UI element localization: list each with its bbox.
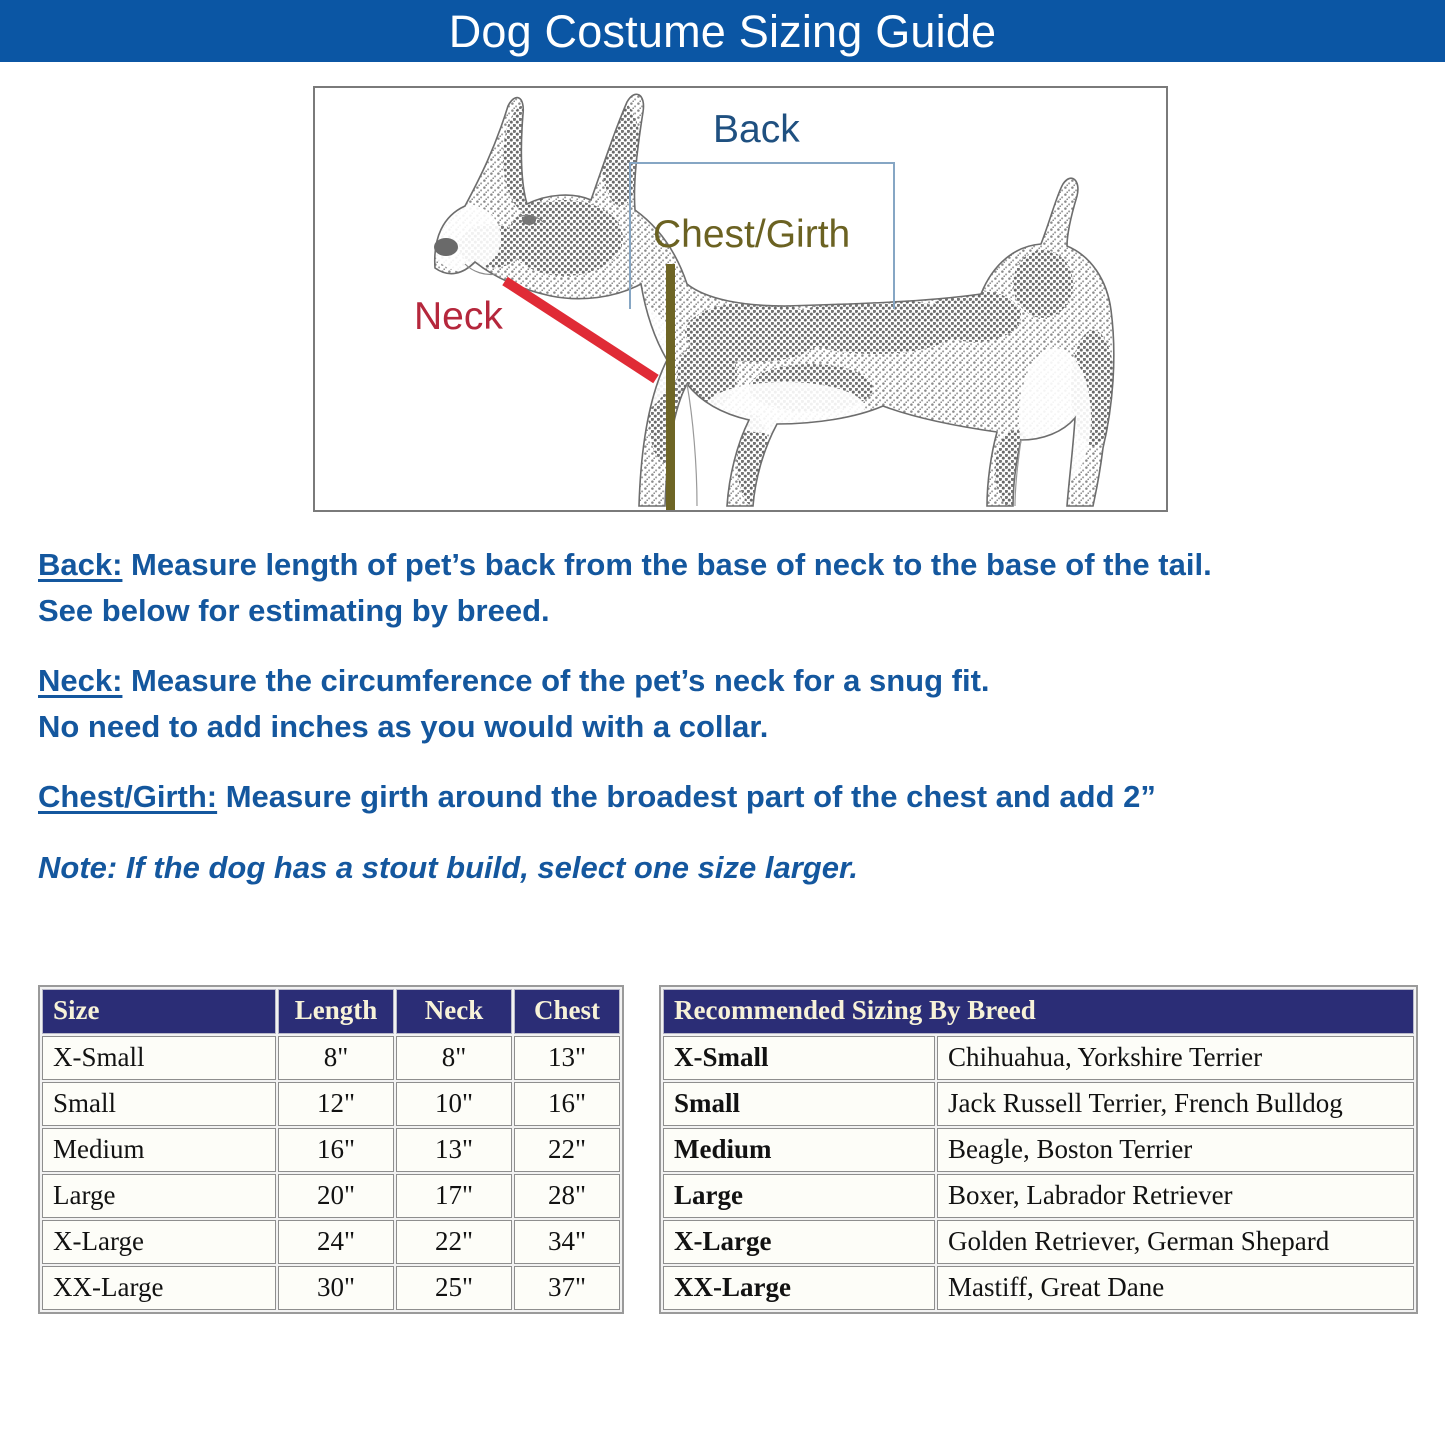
- cell-neck: 25": [396, 1266, 512, 1310]
- instructions-section: Back: Measure length of pet’s back from …: [38, 542, 1408, 890]
- breeds-table: Recommended Sizing By Breed X-Small Chih…: [659, 985, 1418, 1314]
- label-back: Back: [713, 110, 800, 149]
- label-neck: Neck: [414, 297, 503, 336]
- cell-length: 20": [278, 1174, 394, 1218]
- column-header-neck: Neck: [396, 989, 512, 1034]
- table-row: Medium 16" 13" 22": [42, 1128, 620, 1172]
- cell-breeds: Beagle, Boston Terrier: [937, 1128, 1414, 1172]
- measurements-table-header-row: Size Length Neck Chest: [42, 989, 620, 1034]
- table-row: X-Large 24" 22" 34": [42, 1220, 620, 1264]
- instruction-back: Back: Measure length of pet’s back from …: [38, 542, 1408, 633]
- cell-breeds: Jack Russell Terrier, French Bulldog: [937, 1082, 1414, 1126]
- cell-chest: 16": [514, 1082, 620, 1126]
- cell-breeds: Boxer, Labrador Retriever: [937, 1174, 1414, 1218]
- table-row: Medium Beagle, Boston Terrier: [663, 1128, 1414, 1172]
- table-row: X-Small 8" 8" 13": [42, 1036, 620, 1080]
- cell-breeds: Golden Retriever, German Shepard: [937, 1220, 1414, 1264]
- instruction-chest-key: Chest/Girth:: [38, 779, 217, 814]
- cell-neck: 13": [396, 1128, 512, 1172]
- instruction-neck-line-2: No need to add inches as you would with …: [38, 704, 1408, 750]
- cell-length: 8": [278, 1036, 394, 1080]
- cell-neck: 22": [396, 1220, 512, 1264]
- table-row: X-Small Chihuahua, Yorkshire Terrier: [663, 1036, 1414, 1080]
- instruction-back-line-2: See below for estimating by breed.: [38, 588, 1408, 634]
- cell-neck: 17": [396, 1174, 512, 1218]
- cell-size: Medium: [42, 1128, 276, 1172]
- column-header-chest: Chest: [514, 989, 620, 1034]
- instruction-neck-line-1: Neck: Measure the circumference of the p…: [38, 658, 1408, 704]
- cell-chest: 37": [514, 1266, 620, 1310]
- instruction-neck-text-1: Measure the circumference of the pet’s n…: [122, 663, 989, 698]
- instruction-back-key: Back:: [38, 547, 122, 582]
- column-header-length: Length: [278, 989, 394, 1034]
- table-row: XX-Large Mastiff, Great Dane: [663, 1266, 1414, 1310]
- page-title: Dog Costume Sizing Guide: [449, 9, 997, 54]
- cell-size: X-Small: [663, 1036, 935, 1080]
- instruction-chest-line-1: Chest/Girth: Measure girth around the br…: [38, 774, 1408, 820]
- chest-measurement-line: [666, 264, 675, 512]
- column-header-size: Size: [42, 989, 276, 1034]
- cell-size: Medium: [663, 1128, 935, 1172]
- instruction-chest-text-1: Measure girth around the broadest part o…: [217, 779, 1156, 814]
- cell-length: 12": [278, 1082, 394, 1126]
- cell-breeds: Chihuahua, Yorkshire Terrier: [937, 1036, 1414, 1080]
- cell-neck: 8": [396, 1036, 512, 1080]
- cell-chest: 22": [514, 1128, 620, 1172]
- instruction-back-line-1: Back: Measure length of pet’s back from …: [38, 542, 1408, 588]
- cell-breeds: Mastiff, Great Dane: [937, 1266, 1414, 1310]
- cell-size: Large: [663, 1174, 935, 1218]
- cell-size: X-Large: [42, 1220, 276, 1264]
- cell-size: Small: [42, 1082, 276, 1126]
- instruction-neck-key: Neck:: [38, 663, 122, 698]
- table-row: XX-Large 30" 25" 37": [42, 1266, 620, 1310]
- dog-measurement-illustration: Back Chest/Girth Neck: [313, 86, 1168, 512]
- measurements-table: Size Length Neck Chest X-Small 8" 8" 13"…: [38, 985, 624, 1314]
- label-chest-girth: Chest/Girth: [653, 215, 850, 254]
- cell-size: XX-Large: [42, 1266, 276, 1310]
- table-row: Large 20" 17" 28": [42, 1174, 620, 1218]
- breeds-table-header-row: Recommended Sizing By Breed: [663, 989, 1414, 1034]
- cell-size: X-Small: [42, 1036, 276, 1080]
- instruction-back-text-1: Measure length of pet’s back from the ba…: [122, 547, 1211, 582]
- table-row: Small Jack Russell Terrier, French Bulld…: [663, 1082, 1414, 1126]
- breeds-table-title: Recommended Sizing By Breed: [663, 989, 1414, 1034]
- cell-length: 30": [278, 1266, 394, 1310]
- cell-chest: 13": [514, 1036, 620, 1080]
- cell-size: X-Large: [663, 1220, 935, 1264]
- cell-size: Small: [663, 1082, 935, 1126]
- cell-length: 16": [278, 1128, 394, 1172]
- cell-length: 24": [278, 1220, 394, 1264]
- cell-neck: 10": [396, 1082, 512, 1126]
- instruction-neck: Neck: Measure the circumference of the p…: [38, 658, 1408, 749]
- table-row: Small 12" 10" 16": [42, 1082, 620, 1126]
- cell-size: XX-Large: [663, 1266, 935, 1310]
- cell-chest: 28": [514, 1174, 620, 1218]
- cell-chest: 34": [514, 1220, 620, 1264]
- instruction-chest: Chest/Girth: Measure girth around the br…: [38, 774, 1408, 820]
- page-header-bar: Dog Costume Sizing Guide: [0, 0, 1445, 62]
- cell-size: Large: [42, 1174, 276, 1218]
- table-row: Large Boxer, Labrador Retriever: [663, 1174, 1414, 1218]
- table-row: X-Large Golden Retriever, German Shepard: [663, 1220, 1414, 1264]
- instruction-note: Note: If the dog has a stout build, sele…: [38, 845, 1408, 891]
